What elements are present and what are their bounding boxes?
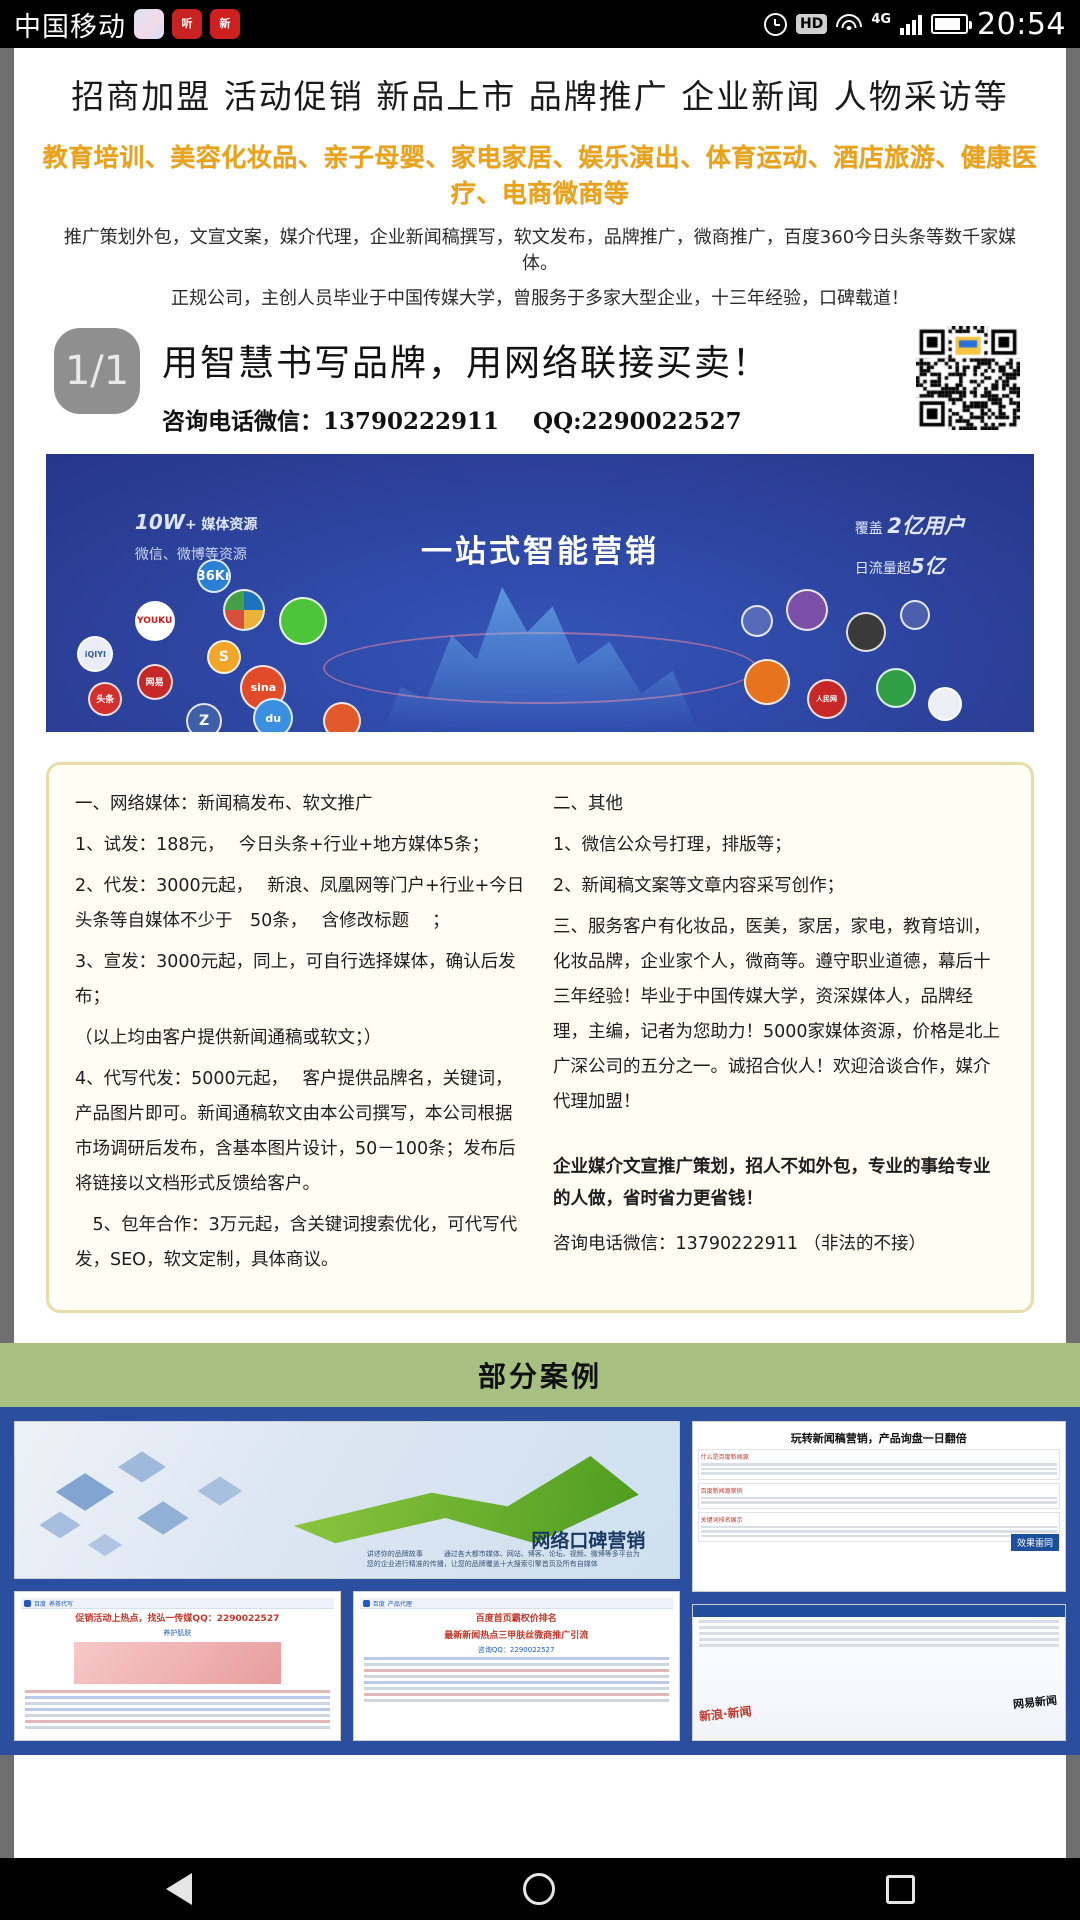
avatar-icon-3 xyxy=(846,612,886,652)
ifeng-logo-icon xyxy=(323,702,361,732)
wom-sub: 讲述你的品牌故事 通过各大都市媒体、网站、博客、论坛、视频、微博等多平台为您的企… xyxy=(367,1549,646,1569)
banner-left-stats: 10W+ 媒体资源 微信、微博等资源 xyxy=(135,510,258,564)
left-item-2: 2、代发：3000元起， 新浪、凤凰网等门户+行业+今日头条等自媒体不少于 50… xyxy=(75,869,527,939)
avatar-icon-6 xyxy=(876,668,916,708)
ad-desc-line-1: 推广策划外包，文宣文案，媒介代理，企业新闻稿撰写，软文发布，品牌推广，微商推广，… xyxy=(14,214,1066,275)
info-column-right: 二、其他 1、微信公众号打理，排版等； 2、新闻稿文案等文章内容采写创作； 三、… xyxy=(553,787,1005,1284)
page-counter-badge: 1/1 xyxy=(54,328,140,414)
cases-grid: 网络口碑营销 讲述你的品牌故事 通过各大都市媒体、网站、博客、论坛、视频、微博等… xyxy=(0,1407,1080,1755)
cases-column-left: 网络口碑营销 讲述你的品牌故事 通过各大都市媒体、网站、博客、论坛、视频、微博等… xyxy=(14,1421,680,1741)
ad-headline: 招商加盟 活动促销 新品上市 品牌推广 企业新闻 人物采访等 xyxy=(14,48,1066,124)
avatar-icon-1 xyxy=(741,605,773,637)
baidu-browser-bar: 百度 养茶代写 xyxy=(21,1598,334,1609)
sina-netease-artwork: 新浪·新闻 网易新闻 xyxy=(693,1605,1065,1740)
notification-icon-xin: 新 xyxy=(210,9,240,39)
sina-header-bar xyxy=(693,1605,1065,1617)
renmin-logo-icon: 人民网 xyxy=(807,679,847,719)
left-item-3: 3、宣发：3000元起，同上，可自行选择媒体，确认后发布； xyxy=(75,945,527,1015)
slogan-row: 1/1 用智慧书写品牌，用网络联接买卖！ 咨询电话微信：13790222911Q… xyxy=(14,310,1066,436)
36kr-logo-icon: 36Kr xyxy=(197,559,231,593)
contact-line: 咨询电话微信：13790222911QQ:2290022527 xyxy=(162,402,770,436)
baidu-promo-sub: 养护肌肤 xyxy=(21,1628,334,1638)
baidu-logo-icon xyxy=(24,1600,31,1607)
news-seg-3: 关键词排名展示 xyxy=(698,1512,1060,1543)
baidu-logo-icon-2 xyxy=(363,1600,370,1607)
zhihu-logo-icon: Z xyxy=(186,703,222,732)
left-title: 一、网络媒体：新闻稿发布、软文推广 xyxy=(75,787,527,822)
slogan-column: 用智慧书写品牌，用网络联接买卖！ 咨询电话微信：13790222911QQ:22… xyxy=(140,328,770,436)
signal-icon xyxy=(900,13,922,35)
qr-code[interactable] xyxy=(914,324,1022,432)
avatar-icon-5 xyxy=(744,659,790,705)
gallery-icon xyxy=(134,9,164,39)
info-column-left: 一、网络媒体：新闻稿发布、软文推广 1、试发：188元， 今日头条+行业+地方媒… xyxy=(75,787,527,1284)
ad-slogan: 用智慧书写品牌，用网络联接买卖！ xyxy=(162,334,770,386)
ad-desc-line-2: 正规公司，主创人员毕业于中国传媒大学，曾服务于多家大型企业，十三年经验，口碑载道… xyxy=(14,275,1066,310)
baidu-rank-lines xyxy=(360,1655,673,1707)
left-item-4: 4、代写代发：5000元起， 客户提供品牌名，关键词，产品图片即可。新闻通稿软文… xyxy=(75,1062,527,1202)
news-seg-2: 百度新闻源案例 xyxy=(698,1483,1060,1509)
netease-label: 网易新闻 xyxy=(1012,1692,1057,1713)
banner-title: 一站式智能营销 xyxy=(421,526,659,571)
iqiyi-logo-icon: iQIYI xyxy=(77,636,113,672)
toutiao-logo-icon: 头条 xyxy=(88,682,122,716)
contact-phone: 13790222911 xyxy=(323,408,499,435)
news-marketing-title: 玩转新闻稿营销，产品询盘一日翻倍 xyxy=(698,1430,1060,1446)
hd-icon: HD xyxy=(796,14,827,34)
right-item-2: 2、新闻稿文案等文章内容采写创作； xyxy=(553,869,1005,904)
right-slogan: 企业媒介文宣推广策划，招人不如外包，专业的事给专业的人做，省时省力更省钱！ xyxy=(553,1152,1005,1215)
banner-users-value: 2亿用户 xyxy=(887,514,965,538)
sogou-logo-icon: S xyxy=(207,640,241,674)
netease-logo-icon: 网易 xyxy=(137,664,173,700)
news-marketing-artwork: 玩转新闻稿营销，产品询盘一日翻倍 什么是百度新闻源 百度新闻源案例 关键词排名展… xyxy=(693,1422,1065,1591)
banner-right-stats: 覆盖 2亿用户 日流量超5亿 xyxy=(855,510,965,579)
notification-icon-ting: 听 xyxy=(172,9,202,39)
banner-traffic-value: 5亿 xyxy=(911,554,945,578)
baidu-rank-bar-tag: 产品代理 xyxy=(388,1599,412,1608)
wifi-icon xyxy=(836,14,862,34)
baidu-rank-bar: 百度 产品代理 xyxy=(360,1598,673,1609)
left-note: （以上均由客户提供新闻通稿或软文；） xyxy=(75,1021,527,1056)
baidu-rank-artwork: 百度 产品代理 百度首页霸权价排名 最新新闻热点三甲肤丝微商推广引流 咨询QQ：… xyxy=(354,1592,679,1740)
right-item-1: 1、微信公众号打理，排版等； xyxy=(553,828,1005,863)
banner-media-sub: 微信、微博等资源 xyxy=(135,544,258,564)
baidu-rank-title: 百度首页霸权价排名 xyxy=(360,1613,673,1626)
banner-media-label: + 媒体资源 xyxy=(185,517,258,533)
cases-thumb-row: 百度 养茶代写 促销活动上热点，找弘一传媒QQ：2290022527 养护肌肤 xyxy=(14,1591,680,1741)
case-thumb-baidu-rank[interactable]: 百度 产品代理 百度首页霸权价排名 最新新闻热点三甲肤丝微商推广引流 咨询QQ：… xyxy=(353,1591,680,1741)
case-thumb-news-marketing[interactable]: 玩转新闻稿营销，产品询盘一日翻倍 什么是百度新闻源 百度新闻源案例 关键词排名展… xyxy=(692,1421,1066,1592)
contact-label: 咨询电话微信： xyxy=(162,408,323,435)
case-thumb-baidu-promo[interactable]: 百度 养茶代写 促销活动上热点，找弘一传媒QQ：2290022527 养护肌肤 xyxy=(14,1591,341,1741)
baidu-rank-bar-label: 百度 xyxy=(373,1599,385,1608)
android-nav-bar xyxy=(0,1858,1080,1920)
case-thumb-word-of-mouth[interactable]: 网络口碑营销 讲述你的品牌故事 通过各大都市媒体、网站、博客、论坛、视频、微博等… xyxy=(14,1421,680,1579)
contact-qq: QQ:2290022527 xyxy=(533,408,742,435)
status-bar: 中国移动 听 新 HD 4G 20:54 xyxy=(0,0,1080,48)
baidu-rank-title-2: 最新新闻热点三甲肤丝微商推广引流 xyxy=(360,1630,673,1643)
case-thumb-sina-netease[interactable]: 新浪·新闻 网易新闻 xyxy=(692,1604,1066,1741)
cases-column-right: 玩转新闻稿营销，产品询盘一日翻倍 什么是百度新闻源 百度新闻源案例 关键词排名展… xyxy=(692,1421,1066,1741)
ad-sheet: 招商加盟 活动促销 新品上市 品牌推广 企业新闻 人物采访等 教育培训、美容化妆… xyxy=(14,48,1066,1858)
left-item-5: 5、包年合作：3万元起，含关键词搜索优化，可代写代发，SEO，软文定制，具体商议… xyxy=(75,1208,527,1278)
promo-banner: 一站式智能营销 10W+ 媒体资源 微信、微博等资源 覆盖 2亿用户 日流量超5… xyxy=(46,454,1034,732)
wom-artwork: 网络口碑营销 讲述你的品牌故事 通过各大都市媒体、网站、博客、论坛、视频、微博等… xyxy=(15,1422,679,1578)
carrier-label: 中国移动 xyxy=(14,5,126,44)
sohu-logo-icon xyxy=(223,589,265,631)
wechat-logo-icon xyxy=(279,597,327,645)
baidu-rank-sub: 咨询QQ：2290022527 xyxy=(360,1645,673,1655)
left-item-1: 1、试发：188元， 今日头条+行业+地方媒体5条； xyxy=(75,828,527,863)
ad-page: 招商加盟 活动促销 新品上市 品牌推广 企业新闻 人物采访等 教育培训、美容化妆… xyxy=(0,48,1080,1858)
alarm-icon xyxy=(764,13,787,36)
right-item-3: 三、服务客户有化妆品，医美，家居，家电，教育培训，化妆品牌，企业家个人，微商等。… xyxy=(553,910,1005,1120)
news-effect-badge: 效果雷同 xyxy=(1011,1534,1059,1551)
banner-users-prefix: 覆盖 xyxy=(855,521,887,537)
cases-section-header: 部分案例 xyxy=(0,1343,1080,1407)
avatar-icon-4 xyxy=(900,600,930,630)
youku-logo-icon: YOUKU xyxy=(135,601,175,641)
baidu-promo-title: 促销活动上热点，找弘一传媒QQ：2290022527 xyxy=(21,1613,334,1626)
battery-icon xyxy=(931,14,968,34)
qq-logo-icon xyxy=(928,687,962,721)
right-title: 二、其他 xyxy=(553,787,1005,822)
4g-icon: 4G xyxy=(871,12,891,27)
back-icon[interactable] xyxy=(166,1873,192,1905)
avatar-icon-2 xyxy=(786,589,828,631)
right-contact: 咨询电话微信：13790222911 （非法的不接） xyxy=(553,1227,1005,1262)
baidu-promo-image xyxy=(74,1642,280,1684)
status-icons: HD 4G 20:54 xyxy=(764,7,1066,42)
ad-categories: 教育培训、美容化妆品、亲子母婴、家电家居、娱乐演出、体育运动、酒店旅游、健康医疗… xyxy=(14,124,1066,214)
baidu-bar-label: 百度 xyxy=(34,1599,46,1608)
baidu-promo-lines xyxy=(21,1688,334,1734)
baidu-bar-tag: 养茶代写 xyxy=(49,1599,73,1608)
baidu-logo-icon: du xyxy=(253,698,293,732)
home-icon[interactable] xyxy=(523,1873,555,1905)
banner-traffic-prefix: 日流量超 xyxy=(855,561,911,577)
baidu-promo-artwork: 百度 养茶代写 促销活动上热点，找弘一传媒QQ：2290022527 养护肌肤 xyxy=(15,1592,340,1740)
recents-icon[interactable] xyxy=(886,1875,915,1904)
banner-media-count: 10W xyxy=(135,510,185,534)
clock-label: 20:54 xyxy=(977,7,1066,42)
news-seg-1: 什么是百度新闻源 xyxy=(698,1449,1060,1480)
service-info-box: 一、网络媒体：新闻稿发布、软文推广 1、试发：188元， 今日头条+行业+地方媒… xyxy=(46,762,1034,1313)
sina-label: 新浪·新闻 xyxy=(698,1702,752,1724)
